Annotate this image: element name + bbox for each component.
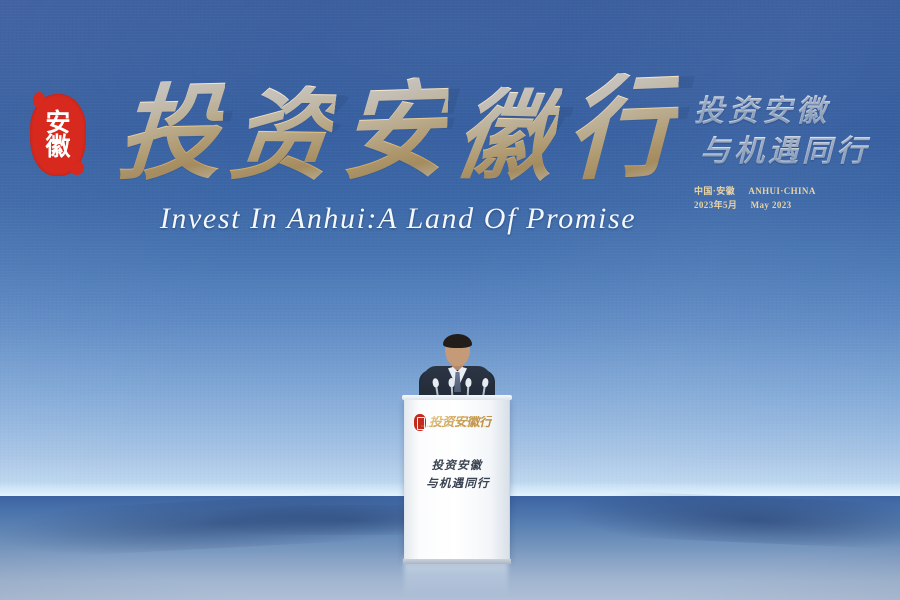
podium-message: 投资安徽 与机遇同行 <box>405 457 509 493</box>
slogan-location-en: ANHUI·CHINA <box>748 186 815 196</box>
headline-char-3: 安 <box>339 76 449 185</box>
podium-logo-plate: 投资安徽行 <box>414 409 500 435</box>
podium-base <box>403 559 511 564</box>
stage-photo: 安 徽 投 资 安 徽 行 Invest In Anhui:A Land Of … <box>0 0 900 600</box>
headline-chinese: 投 资 安 徽 行 <box>118 62 678 204</box>
slogan-date-en: May 2023 <box>751 200 792 210</box>
slogan-line-1: 投资安徽 <box>694 92 874 132</box>
slogan-meta: 中国·安徽 ANHUI·CHINA 2023年5月 May 2023 <box>694 185 874 213</box>
podium-top-edge <box>402 395 512 400</box>
headline-char-1: 投 <box>114 80 225 186</box>
slogan-block: 投资安徽 与机遇同行 中国·安徽 ANHUI·CHINA 2023年5月 May… <box>694 92 874 213</box>
podium-message-line-1: 投资安徽 <box>405 457 509 475</box>
slogan-date-row: 2023年5月 May 2023 <box>694 199 874 213</box>
headline-char-5: 行 <box>565 71 679 187</box>
podium: 投资安徽行 Invest In Anhui:A Land Of Promise … <box>404 399 510 560</box>
slogan-date-cn: 2023年5月 <box>694 200 737 210</box>
seal-glyph-top: 安 <box>45 112 70 135</box>
slogan-location-row: 中国·安徽 ANHUI·CHINA <box>694 185 874 199</box>
seal-glyphs: 安 徽 <box>30 94 86 176</box>
speaker-hair <box>443 334 472 348</box>
slogan-line-2: 与机遇同行 <box>694 132 874 172</box>
headline-char-2: 资 <box>226 84 338 185</box>
podium-plate-subtitle: Invest In Anhui:A Land Of Promise <box>421 424 486 428</box>
anhui-seal-icon: 安 徽 <box>30 94 86 176</box>
seal-glyph-bottom: 徽 <box>45 136 70 159</box>
podium-message-line-2: 与机遇同行 <box>405 475 509 493</box>
headline-english: Invest In Anhui:A Land Of Promise <box>138 202 658 236</box>
headline-char-4: 徽 <box>450 85 563 186</box>
slogan-location-cn: 中国·安徽 <box>694 186 735 196</box>
